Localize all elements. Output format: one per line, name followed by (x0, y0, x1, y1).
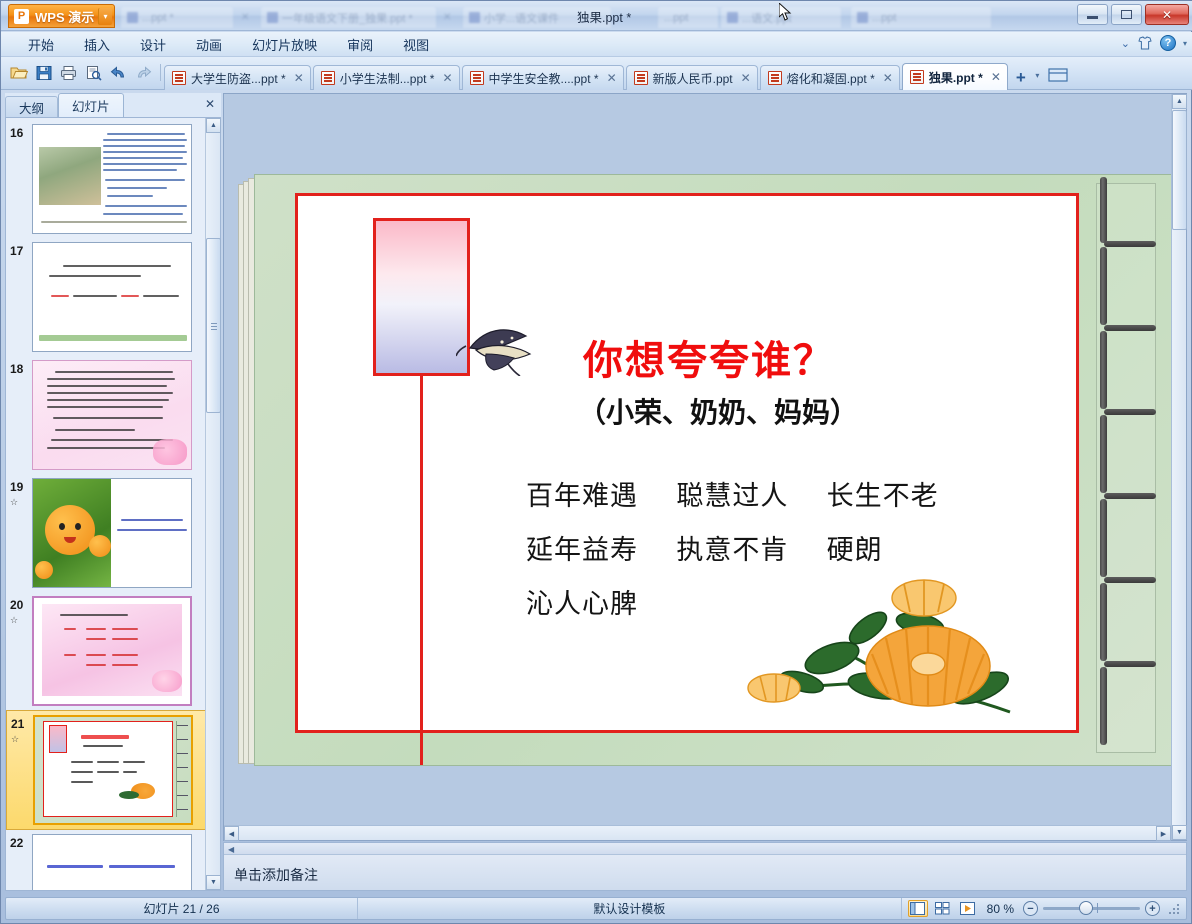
scroll-left-button[interactable]: ◀ (224, 826, 239, 841)
ghost-tab-label: 小学...语文课件 (484, 10, 559, 26)
open-button[interactable] (7, 61, 30, 84)
vertical-red-line-shape (420, 376, 423, 766)
animation-marker-icon: ☆ (10, 497, 32, 508)
slide-content-frame: 你想夸夸谁？ （小荣、奶奶、妈妈） 百年难遇 聪慧过人 长生不老 延年益寿 执意… (295, 193, 1079, 733)
undo-icon (110, 65, 127, 80)
ghost-tab-icon (127, 12, 138, 23)
save-button[interactable] (32, 61, 55, 84)
panel-close-icon[interactable]: ✕ (205, 97, 215, 111)
menubar-right-icons: ⌄ ? ▾ (1121, 35, 1187, 51)
active-document-title: 独果.ppt * (577, 7, 631, 26)
stage-vertical-scrollbar[interactable]: ▲ ▼ (1171, 94, 1186, 840)
open-icon (10, 65, 28, 81)
spiral-rung (1104, 409, 1156, 415)
spiral-bar (1100, 667, 1107, 745)
slide-thumbnail-list[interactable]: 16 (5, 117, 221, 891)
tab-slides[interactable]: 幻灯片 (58, 93, 124, 117)
menu-bar: 开始 插入 设计 动画 幻灯片放映 审阅 视图 ⌄ ? ▾ (1, 32, 1192, 57)
print-icon (60, 65, 77, 81)
design-template-name: 默认设计模板 (358, 898, 902, 919)
document-tab-2[interactable]: 中学生安全教....ppt * ✕ (462, 65, 624, 90)
spiral-binding-decoration (1088, 175, 1160, 766)
ghost-tab-icon (727, 12, 738, 23)
slide-body-line-1[interactable]: 百年难遇 聪慧过人 长生不老 (526, 474, 939, 513)
thumbnail-number: 16 (10, 124, 32, 234)
document-tab-0[interactable]: 大学生防盗...ppt * ✕ (164, 65, 311, 90)
document-tab-3[interactable]: 新版人民币.ppt ✕ (626, 65, 758, 90)
slide-editing-stage[interactable]: 你想夸夸谁？ （小荣、奶奶、妈妈） 百年难遇 聪慧过人 长生不老 延年益寿 执意… (223, 93, 1187, 841)
new-tab-button[interactable]: + (1010, 66, 1032, 90)
stage-horizontal-scrollbar[interactable]: ◀ ▶ (224, 825, 1171, 840)
restore-icon (1121, 10, 1132, 19)
thumbnail-photo (39, 147, 101, 205)
restore-button[interactable] (1111, 4, 1142, 25)
ghost-tab-close-icon[interactable]: ✕ (241, 12, 249, 23)
thumbnail-number: 21 ☆ (11, 715, 33, 825)
help-icon[interactable]: ? (1160, 35, 1176, 51)
stage-scrollbar-thumb[interactable] (1172, 110, 1187, 230)
new-tab-caret-icon[interactable]: ▾ (1032, 71, 1043, 80)
document-tab-close-icon[interactable]: ✕ (741, 72, 751, 84)
thumbnail-item-20[interactable]: 20 ☆ (6, 592, 220, 710)
document-tab-label: 熔化和凝固.ppt * (787, 70, 875, 87)
normal-view-icon (910, 902, 925, 915)
toolbar-strip: ▾ 大学生防盗...ppt * ✕ 小学生法制...ppt * ✕ 中学生安全教… (1, 57, 1192, 90)
resize-grip-icon[interactable] (1168, 903, 1180, 915)
print-preview-icon (85, 65, 102, 81)
document-tab-5[interactable]: 独果.ppt * ✕ (902, 63, 1008, 90)
zoom-slider[interactable] (1043, 907, 1140, 910)
thumbnail-scrollbar[interactable]: ▲ ▼ (205, 118, 220, 890)
thumbnail-preview (32, 596, 192, 706)
notes-splitter[interactable]: ◀ (224, 843, 1186, 855)
ghost-tab-close-icon[interactable]: ✕ (443, 12, 451, 23)
document-tab-close-icon[interactable]: ✕ (294, 72, 304, 84)
animation-marker-icon: ☆ (11, 734, 33, 745)
thumbnail-item-16[interactable]: 16 (6, 120, 220, 238)
slide-subtitle-text[interactable]: （小荣、奶奶、妈妈） (578, 391, 858, 431)
spiral-rung (1104, 577, 1156, 583)
menu-item-slideshow[interactable]: 幻灯片放映 (241, 33, 328, 56)
zoom-level-label: 80 % (987, 902, 1014, 916)
document-tab-1[interactable]: 小学生法制...ppt * ✕ (313, 65, 460, 90)
document-tab-label: 中学生安全教....ppt * (489, 70, 599, 87)
redo-icon (135, 65, 152, 80)
theme-shirt-icon[interactable] (1137, 36, 1153, 51)
save-icon (36, 65, 52, 81)
spiral-bar (1100, 415, 1107, 493)
document-tab-close-icon[interactable]: ✕ (607, 72, 617, 84)
thumbnail-number: 19 ☆ (10, 478, 32, 588)
document-tab-close-icon[interactable]: ✕ (883, 72, 893, 84)
ghost-tab-label: ...ppt * (142, 12, 174, 24)
slideshow-button[interactable] (958, 900, 978, 917)
menu-item-review[interactable]: 审阅 (336, 33, 384, 56)
ghost-tab[interactable]: ...ppt (658, 7, 718, 28)
tab-list-icon[interactable] (1047, 66, 1069, 84)
minimize-icon (1087, 16, 1098, 19)
document-tab-label: 独果.ppt * (929, 69, 983, 86)
thumbnail-number: 17 (10, 242, 32, 352)
spiral-bar (1100, 331, 1107, 409)
document-tab-bar: 大学生防盗...ppt * ✕ 小学生法制...ppt * ✕ 中学生安全教..… (164, 60, 1192, 90)
zoom-slider-knob[interactable] (1079, 901, 1093, 915)
notes-placeholder[interactable]: 单击添加备注 (234, 865, 318, 885)
scroll-up-button[interactable]: ▲ (1172, 94, 1187, 109)
slide-counter: 幻灯片 21 / 26 (6, 898, 358, 919)
slide-body-line-3[interactable]: 沁人心脾 (526, 582, 638, 621)
zoom-slider-tick (1097, 903, 1098, 913)
slide-sorter-icon (935, 902, 950, 915)
scroll-down-icon: ▼ (210, 879, 217, 886)
thumbnail-number: 18 (10, 360, 32, 470)
view-and-zoom-controls: 80 % − + (902, 900, 1186, 917)
slide-title-text[interactable]: 你想夸夸谁？ (583, 328, 835, 386)
ppt-file-icon (470, 71, 484, 85)
wps-brand-label: WPS 演示 (35, 7, 94, 26)
menu-item-animation[interactable]: 动画 (185, 33, 233, 56)
document-tab-4[interactable]: 熔化和凝固.ppt * ✕ (760, 65, 900, 90)
window-controls: ✕ (1077, 4, 1189, 25)
ghost-tab-label: 一年级语文下册_独果.ppt * (282, 10, 413, 26)
thumbnail-number: 22 (10, 834, 32, 891)
zoom-in-button[interactable]: + (1145, 901, 1160, 916)
redo-button[interactable] (132, 61, 155, 84)
document-tab-close-icon[interactable]: ✕ (442, 72, 452, 84)
flower-bud-left (748, 674, 800, 702)
slide-sorter-button[interactable] (933, 900, 953, 917)
menu-item-view[interactable]: 视图 (392, 33, 440, 56)
spiral-bar (1100, 247, 1107, 325)
animation-marker-icon: ☆ (10, 615, 32, 626)
document-tab-close-icon[interactable]: ✕ (991, 71, 1001, 83)
thumbnail-item-22[interactable]: 22 (6, 830, 220, 891)
scroll-up-icon: ▲ (210, 122, 217, 129)
ppt-file-icon (910, 70, 924, 84)
document-tab-label: 大学生防盗...ppt * (191, 70, 286, 87)
ghost-tab[interactable]: ...ppt (851, 7, 991, 28)
chevron-down-icon[interactable]: ⌄ (1121, 37, 1130, 50)
scroll-down-button[interactable]: ▼ (1172, 825, 1187, 840)
close-button[interactable]: ✕ (1145, 4, 1189, 25)
spiral-bar (1100, 583, 1107, 661)
spiral-rung (1104, 241, 1156, 247)
wps-logo-icon: P (14, 9, 29, 24)
thumbnail-preview (32, 242, 192, 352)
ghost-tab[interactable]: ...ppt * (121, 7, 233, 28)
ghost-tab-label: ...ppt (872, 12, 896, 24)
thumbnail-preview-current (33, 715, 193, 825)
help-caret-down-icon[interactable]: ▾ (1183, 39, 1187, 48)
menu-item-design[interactable]: 设计 (129, 33, 177, 56)
ghost-tab-icon (857, 12, 868, 23)
zoom-out-button[interactable]: − (1023, 901, 1038, 916)
ghost-tab-icon (469, 12, 480, 23)
undo-button[interactable] (107, 61, 130, 84)
flower-bud-top (892, 580, 956, 616)
document-tab-label: 新版人民币.ppt (653, 70, 733, 87)
spiral-bar (1100, 499, 1107, 577)
thumbnail-item-19[interactable]: 19 ☆ (6, 474, 220, 592)
print-button[interactable] (57, 61, 80, 84)
spiral-rung (1104, 493, 1156, 499)
wps-presentation-window: P WPS 演示 ▾ ...ppt * ✕ 一年级语文下册_独果.ppt * ✕… (0, 0, 1192, 924)
scroll-down-button[interactable]: ▼ (206, 875, 221, 890)
scroll-up-button[interactable]: ▲ (206, 118, 221, 133)
thumbnail-item-18[interactable]: 18 (6, 356, 220, 474)
status-bar: 幻灯片 21 / 26 默认设计模板 (5, 897, 1187, 920)
ghost-tab-icon (267, 12, 278, 23)
title-bar: P WPS 演示 ▾ ...ppt * ✕ 一年级语文下册_独果.ppt * ✕… (1, 1, 1192, 31)
thumbnail-preview (32, 360, 192, 470)
spiral-bar (1100, 177, 1107, 243)
close-icon: ✕ (1162, 8, 1172, 22)
chrysanthemum-flower-icon[interactable] (728, 562, 1088, 752)
notes-pane[interactable]: ◀ 单击添加备注 (223, 842, 1187, 891)
wps-menu-caret-icon[interactable]: ▾ (98, 8, 112, 25)
thumbnail-item-17[interactable]: 17 (6, 238, 220, 356)
thumbnail-item-21[interactable]: 21 ☆ (6, 710, 220, 830)
toolbar-divider (160, 64, 161, 81)
ppt-file-icon (768, 71, 782, 85)
menu-item-insert[interactable]: 插入 (73, 33, 121, 56)
document-tab-label: 小学生法制...ppt * (340, 70, 435, 87)
panel-tab-bar: 大纲 幻灯片 ✕ (5, 93, 221, 117)
notes-collapse-icon[interactable]: ◀ (228, 845, 234, 854)
spiral-rung (1104, 661, 1156, 667)
thumbnail-preview (32, 124, 192, 234)
ppt-file-icon (634, 71, 648, 85)
thumbnail-preview (32, 478, 192, 588)
ghost-tab[interactable]: 一年级语文下册_独果.ppt * (261, 7, 436, 28)
ppt-file-icon (172, 71, 186, 85)
thumbnail-preview (32, 834, 192, 891)
quick-access-toolbar: ▾ (7, 61, 180, 84)
mouse-cursor-icon (779, 3, 792, 22)
slide-navigator-panel: 大纲 幻灯片 ✕ 16 (5, 93, 221, 891)
wps-brand-badge[interactable]: P WPS 演示 ▾ (8, 4, 115, 28)
print-preview-button[interactable] (82, 61, 105, 84)
minimize-button[interactable] (1077, 4, 1108, 25)
menu-item-start[interactable]: 开始 (17, 33, 65, 56)
current-slide[interactable]: 你想夸夸谁？ （小荣、奶奶、妈妈） 百年难遇 聪慧过人 长生不老 延年益寿 执意… (254, 174, 1175, 766)
tab-outline[interactable]: 大纲 (5, 96, 58, 117)
ghost-tab-label: ...ppt (664, 12, 688, 24)
flower-large (866, 626, 990, 706)
spiral-rung (1104, 325, 1156, 331)
scrollbar-thumb[interactable] (206, 238, 221, 413)
slideshow-icon (960, 902, 975, 915)
thumbnail-number: 20 ☆ (10, 596, 32, 706)
normal-view-button[interactable] (908, 900, 928, 917)
ppt-file-icon (321, 71, 335, 85)
butterfly-icon[interactable] (456, 324, 536, 376)
scroll-right-button[interactable]: ▶ (1156, 826, 1171, 841)
slide-canvas-wrapper: 你想夸夸谁？ （小荣、奶奶、妈妈） 百年难遇 聪慧过人 长生不老 延年益寿 执意… (238, 174, 1175, 774)
